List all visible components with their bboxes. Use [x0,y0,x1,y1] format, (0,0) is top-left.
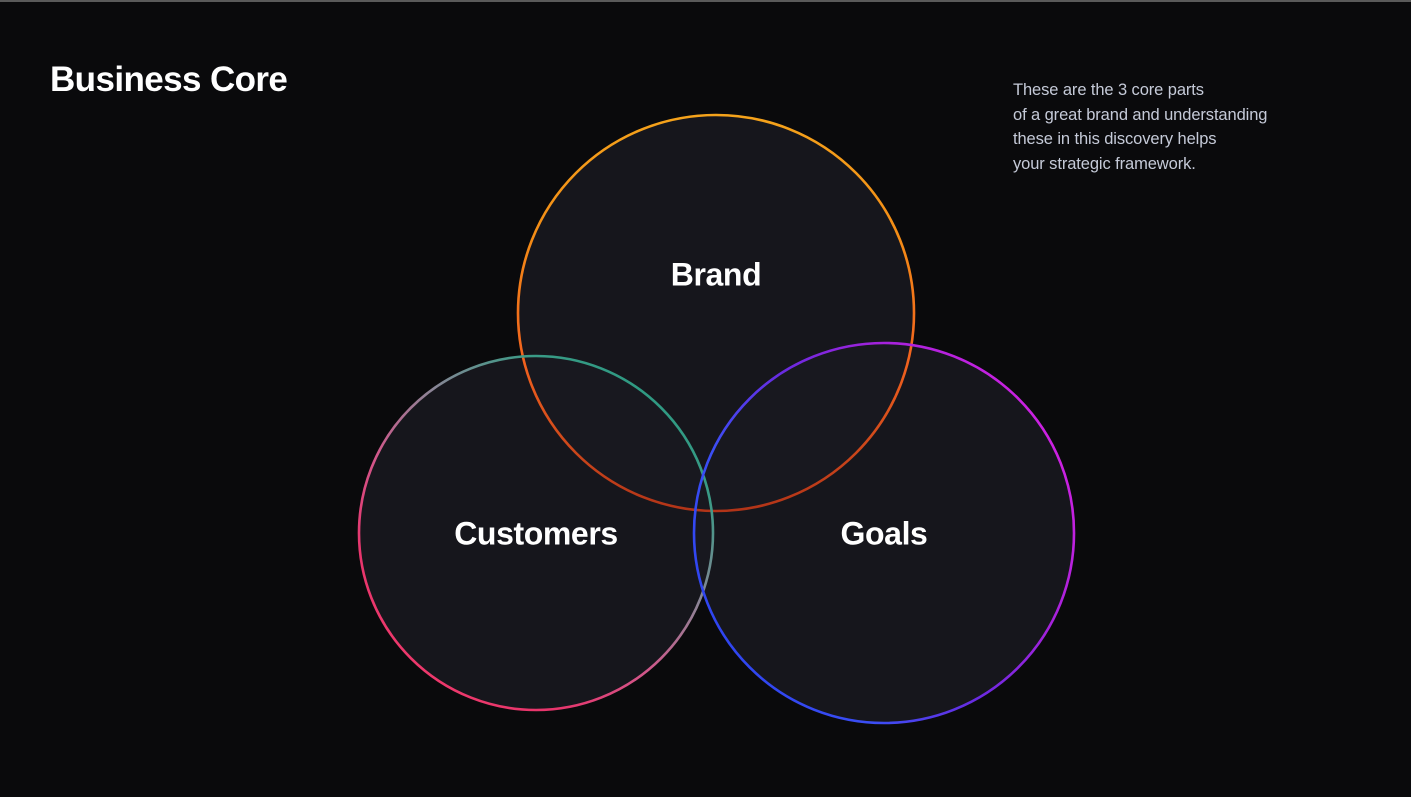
venn-diagram [0,0,1411,797]
slide-canvas: Business Core These are the 3 core parts… [0,0,1411,797]
venn-fill-customers [359,356,713,710]
venn-fill-goals [694,343,1074,723]
venn-fill-group [359,115,1074,723]
